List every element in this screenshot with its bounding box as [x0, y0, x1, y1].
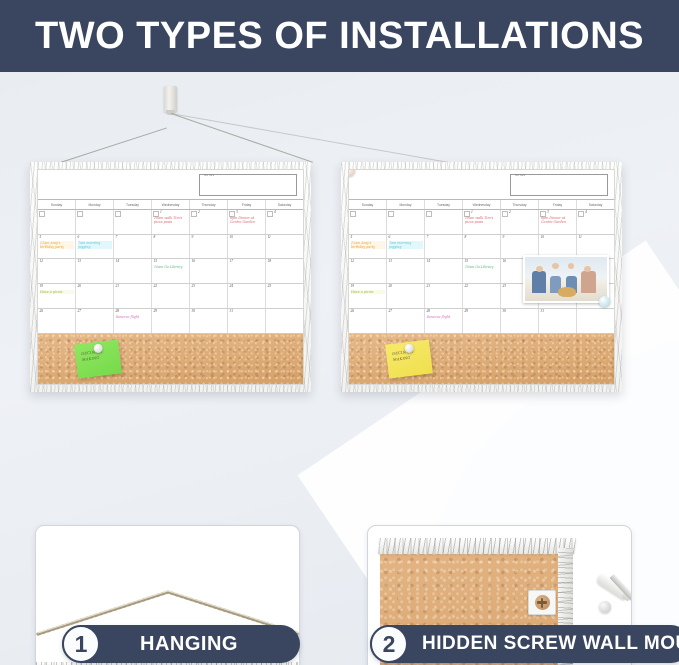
calendar-day-cell: 29 [463, 309, 501, 333]
notes-box-left: NOTES [199, 174, 297, 196]
calendar-week-row: 1213141510am Go Library161718 [38, 259, 303, 284]
calendar-day-number: 16 [503, 259, 507, 263]
calendar-day-cell: 8 [152, 235, 190, 259]
calendar-day-number: 8 [154, 235, 156, 239]
calendar-day-cell: 27 [76, 309, 114, 333]
photo-person-1 [532, 271, 546, 293]
magnet-icon-bottom [599, 296, 610, 307]
calendar-day-cell [349, 210, 387, 234]
calendar-day-number: 20 [78, 284, 82, 288]
screw-top-icon [599, 601, 611, 613]
calendar-handwritten-note: 7am morning jogging [78, 241, 112, 249]
calendar-day-cell: 13 [387, 259, 425, 283]
calendar-week-row: 110am walk Tim's pizza paws238pm Dinner … [349, 210, 614, 235]
calendar-day-cell: 110am walk Tim's pizza paws [463, 210, 501, 234]
notes-label: NOTES [204, 174, 214, 177]
calendar-day-number: 24 [230, 284, 234, 288]
calendar-day-cell: 110am walk Tim's pizza paws [152, 210, 190, 234]
sticky-note-right: DECISION MAKING [385, 339, 433, 378]
hanging-string-right [171, 113, 313, 163]
calendar-day-cell: 17 [228, 259, 266, 283]
calendar-day-number: 23 [192, 284, 196, 288]
calendar-day-cell: 512am Amy's birthday party [38, 235, 76, 259]
calendar-day-cell: 31 [539, 309, 577, 333]
step-number-1: 1 [75, 633, 88, 656]
day-checkbox [426, 211, 432, 217]
step-number-circle-1: 1 [62, 625, 100, 663]
photo-person-4 [581, 271, 596, 293]
calendar-week-row: 262728Reserve flight293031 [38, 309, 303, 333]
calendar-day-number: 30 [192, 309, 196, 313]
day-checkbox [267, 211, 273, 217]
calendar-day-cell: 26 [349, 309, 387, 333]
calendar-day-cell: 7 [114, 235, 152, 259]
calendar-day-number: 1 [471, 210, 473, 214]
calendar-week-row: 110am walk Tim's pizza paws238pm Dinner … [38, 210, 303, 235]
page-header: TWO TYPES OF INSTALLATIONS [0, 0, 679, 72]
calendar-day-cell: 19Have a picnic [38, 284, 76, 308]
dow-friday-r: Friday [539, 200, 577, 209]
dow-tuesday-r: Tuesday [425, 200, 463, 209]
calendar-day-cell: 4 [266, 210, 303, 234]
calendar-day-number: 2 [198, 210, 200, 214]
calendar-day-number: 6 [78, 235, 80, 239]
calendar-handwritten-note: 8pm Dinner at Centre Garden [541, 216, 575, 224]
calendar-handwritten-note: 10am Go Library [465, 265, 499, 269]
dow-wednesday: Wednesday [152, 200, 190, 209]
calendar-day-cell: 2 [190, 210, 228, 234]
step-label-2: HIDDEN SCREW WALL MOUNT [422, 633, 679, 655]
calendar-day-cell: 11 [266, 235, 303, 259]
calendar-day-cell: 24 [228, 284, 266, 308]
calendar-day-cell [266, 309, 303, 333]
calendar-day-cell: 14 [114, 259, 152, 283]
dow-sunday: Sunday [38, 200, 76, 209]
calendar-day-cell [114, 210, 152, 234]
calendar-day-cell: 30 [501, 309, 539, 333]
calendar-day-cell: 38pm Dinner at Centre Garden [539, 210, 577, 234]
calendar-day-cell: 22 [152, 284, 190, 308]
calendar-right: NOTES Sunday Monday Tuesday Wednesday Th… [349, 170, 614, 333]
calendar-board-wall-mount: NOTES Sunday Monday Tuesday Wednesday Th… [341, 162, 622, 392]
calendar-day-number: 9 [503, 235, 505, 239]
page-title: TWO TYPES OF INSTALLATIONS [35, 15, 644, 58]
calendar-day-cell: 22 [463, 284, 501, 308]
photo-head-2 [552, 263, 559, 269]
calendar-day-cell: 1510am Go Library [463, 259, 501, 283]
calendar-day-cell: 2 [501, 210, 539, 234]
frame-edge-top-detail [378, 538, 576, 554]
calendar-day-number: 15 [465, 259, 469, 263]
calendar-day-number: 25 [268, 284, 272, 288]
calendar-day-cell: 21 [114, 284, 152, 308]
calendar-day-cell [577, 309, 614, 333]
calendar-day-number: 29 [154, 309, 158, 313]
calendar-day-cell: 1510am Go Library [152, 259, 190, 283]
dow-sunday-r: Sunday [349, 200, 387, 209]
calendar-day-number: 14 [427, 259, 431, 263]
notes-box-right: NOTES [510, 174, 608, 196]
board-surface-right: NOTES Sunday Monday Tuesday Wednesday Th… [348, 169, 615, 385]
calendar-day-cell: 12 [38, 259, 76, 283]
day-checkbox [115, 211, 121, 217]
calendar-handwritten-note: 10am walk Tim's pizza paws [465, 216, 499, 224]
calendar-day-number: 10 [541, 235, 545, 239]
calendar-day-cell: 19Have a picnic [349, 284, 387, 308]
calendar-day-number: 29 [465, 309, 469, 313]
calendar-day-cell: 67am morning jogging [76, 235, 114, 259]
calendar-day-number: 3 [236, 210, 238, 214]
dow-friday: Friday [228, 200, 266, 209]
calendar-handwritten-note: 7am morning jogging [389, 241, 423, 249]
calendar-handwritten-note: 12am Amy's birthday party [40, 241, 74, 249]
calendar-day-cell: 27 [387, 309, 425, 333]
dow-saturday: Saturday [266, 200, 303, 209]
calendar-day-cell: 67am morning jogging [387, 235, 425, 259]
calendar-day-cell: 16 [190, 259, 228, 283]
board-surface-left: NOTES Sunday Monday Tuesday Wednesday Th… [37, 169, 304, 385]
day-checkbox [502, 211, 508, 217]
step-badge-hanging: 1 HANGING [62, 625, 300, 663]
calendar-day-number: 12 [351, 259, 355, 263]
calendar-day-cell: 7 [425, 235, 463, 259]
calendar-day-number: 31 [541, 309, 545, 313]
calendar-day-number: 7 [116, 235, 118, 239]
calendar-handwritten-note: 12am Amy's birthday party [351, 241, 385, 249]
calendar-day-number: 22 [154, 284, 158, 288]
day-checkbox [388, 211, 394, 217]
day-checkbox [578, 211, 584, 217]
screw-head-icon [535, 595, 550, 610]
calendar-day-cell: 26 [38, 309, 76, 333]
hanging-string-right-far [171, 113, 457, 164]
calendar-day-number: 22 [465, 284, 469, 288]
calendar-day-number: 31 [230, 309, 234, 313]
calendar-day-number: 28 [427, 309, 431, 313]
dow-saturday-r: Saturday [577, 200, 614, 209]
calendar-week-row: 262728Reserve flight293031 [349, 309, 614, 333]
calendar-day-cell: 31 [228, 309, 266, 333]
calendar-day-cell [387, 210, 425, 234]
step-number-circle-2: 2 [370, 625, 408, 663]
day-checkbox [39, 211, 45, 217]
calendar-day-number: 28 [116, 309, 120, 313]
dow-monday-r: Monday [387, 200, 425, 209]
calendar-handwritten-note: 10am walk Tim's pizza paws [154, 216, 188, 224]
calendar-day-number: 5 [351, 235, 353, 239]
cork-strip-left: DECISION MAKING [38, 333, 303, 384]
cork-strip-right: DECISION MAKING [349, 333, 614, 384]
notes-label-right: NOTES [515, 174, 525, 177]
photo-dog [558, 287, 576, 297]
calendar-day-cell: 20 [76, 284, 114, 308]
calendar-day-cell: 38pm Dinner at Centre Garden [228, 210, 266, 234]
calendar-day-number: 2 [509, 210, 511, 214]
calendar-day-number: 8 [465, 235, 467, 239]
calendar-handwritten-note: Have a picnic [351, 290, 385, 294]
calendar-day-cell: 10 [228, 235, 266, 259]
calendar-day-number: 16 [192, 259, 196, 263]
step-label-1: HANGING [140, 633, 238, 656]
calendar-day-number: 26 [40, 309, 44, 313]
calendar-day-cell: 28Reserve flight [425, 309, 463, 333]
calendar-day-number: 12 [40, 259, 44, 263]
calendar-day-cell: 14 [425, 259, 463, 283]
calendar-week-row: 512am Amy's birthday party67am morning j… [38, 235, 303, 260]
dow-wednesday-r: Wednesday [463, 200, 501, 209]
family-photo [523, 255, 609, 303]
sticky-note-left: DECISION MAKING [74, 339, 122, 378]
day-checkbox [350, 211, 356, 217]
day-of-week-row-left: Sunday Monday Tuesday Wednesday Thursday… [38, 200, 303, 210]
calendar-day-number: 21 [116, 284, 120, 288]
calendar-handwritten-note: 8pm Dinner at Centre Garden [230, 216, 264, 224]
calendar-day-number: 19 [351, 284, 355, 288]
product-stage: NOTES Sunday Monday Tuesday Wednesday Th… [0, 72, 679, 665]
calendar-day-number: 3 [547, 210, 549, 214]
calendar-day-number: 18 [268, 259, 272, 263]
calendar-day-cell: 12 [349, 259, 387, 283]
calendar-day-number: 19 [40, 284, 44, 288]
calendar-day-number: 15 [154, 259, 158, 263]
calendar-day-cell: 23 [190, 284, 228, 308]
calendar-day-number: 13 [78, 259, 82, 263]
calendar-day-cell: 13 [76, 259, 114, 283]
calendar-day-number: 4 [274, 210, 276, 214]
calendar-day-number: 6 [389, 235, 391, 239]
calendar-day-cell [76, 210, 114, 234]
calendar-day-number: 21 [427, 284, 431, 288]
step-number-2: 2 [383, 633, 396, 656]
calendar-day-number: 27 [389, 309, 393, 313]
calendar-handwritten-note: 10am Go Library [154, 265, 188, 269]
calendar-day-number: 5 [40, 235, 42, 239]
calendar-day-number: 11 [579, 235, 582, 239]
calendar-day-number: 10 [230, 235, 234, 239]
calendar-day-cell: 20 [387, 284, 425, 308]
calendar-day-cell: 25 [266, 284, 303, 308]
calendar-day-cell: 21 [425, 284, 463, 308]
calendar-day-number: 4 [585, 210, 587, 214]
calendar-header-right: NOTES [349, 170, 614, 200]
calendar-grid-left: 110am walk Tim's pizza paws238pm Dinner … [38, 210, 303, 333]
calendar-day-number: 17 [230, 259, 234, 263]
calendar-day-cell: 28Reserve flight [114, 309, 152, 333]
calendar-day-number: 9 [192, 235, 194, 239]
calendar-day-cell: 512am Amy's birthday party [349, 235, 387, 259]
step-badge-wall-mount: 2 HIDDEN SCREW WALL MOUNT [370, 625, 679, 663]
calendar-day-cell: 9 [190, 235, 228, 259]
calendar-board-hanging: NOTES Sunday Monday Tuesday Wednesday Th… [30, 162, 311, 392]
calendar-day-number: 20 [389, 284, 393, 288]
day-of-week-row-right: Sunday Monday Tuesday Wednesday Thursday… [349, 200, 614, 210]
keyhole-bracket [528, 590, 556, 615]
dow-thursday: Thursday [190, 200, 228, 209]
calendar-day-number: 7 [427, 235, 429, 239]
calendar-day-cell: 29 [152, 309, 190, 333]
calendar-day-number: 23 [503, 284, 507, 288]
calendar-day-number: 11 [268, 235, 271, 239]
calendar-header-left: NOTES [38, 170, 303, 200]
calendar-day-cell: 4 [577, 210, 614, 234]
calendar-day-number: 30 [503, 309, 507, 313]
calendar-day-cell: 8 [463, 235, 501, 259]
calendar-day-cell: 30 [190, 309, 228, 333]
calendar-day-number: 26 [351, 309, 355, 313]
calendar-handwritten-note: Reserve flight [427, 315, 461, 319]
calendar-handwritten-note: Have a picnic [40, 290, 74, 294]
dow-monday: Monday [76, 200, 114, 209]
dow-thursday-r: Thursday [501, 200, 539, 209]
dow-tuesday: Tuesday [114, 200, 152, 209]
calendar-day-number: 14 [116, 259, 120, 263]
calendar-day-cell [425, 210, 463, 234]
calendar-day-cell [38, 210, 76, 234]
day-checkbox [191, 211, 197, 217]
photo-head-3 [568, 263, 575, 269]
calendar-day-number: 27 [78, 309, 82, 313]
calendar-left: NOTES Sunday Monday Tuesday Wednesday Th… [38, 170, 303, 333]
calendar-week-row: 19Have a picnic202122232425 [38, 284, 303, 309]
calendar-handwritten-note: Reserve flight [116, 315, 150, 319]
calendar-day-number: 1 [160, 210, 162, 214]
day-checkbox [77, 211, 83, 217]
wall-nail-icon [164, 86, 177, 112]
calendar-day-number: 13 [389, 259, 393, 263]
calendar-day-cell: 18 [266, 259, 303, 283]
